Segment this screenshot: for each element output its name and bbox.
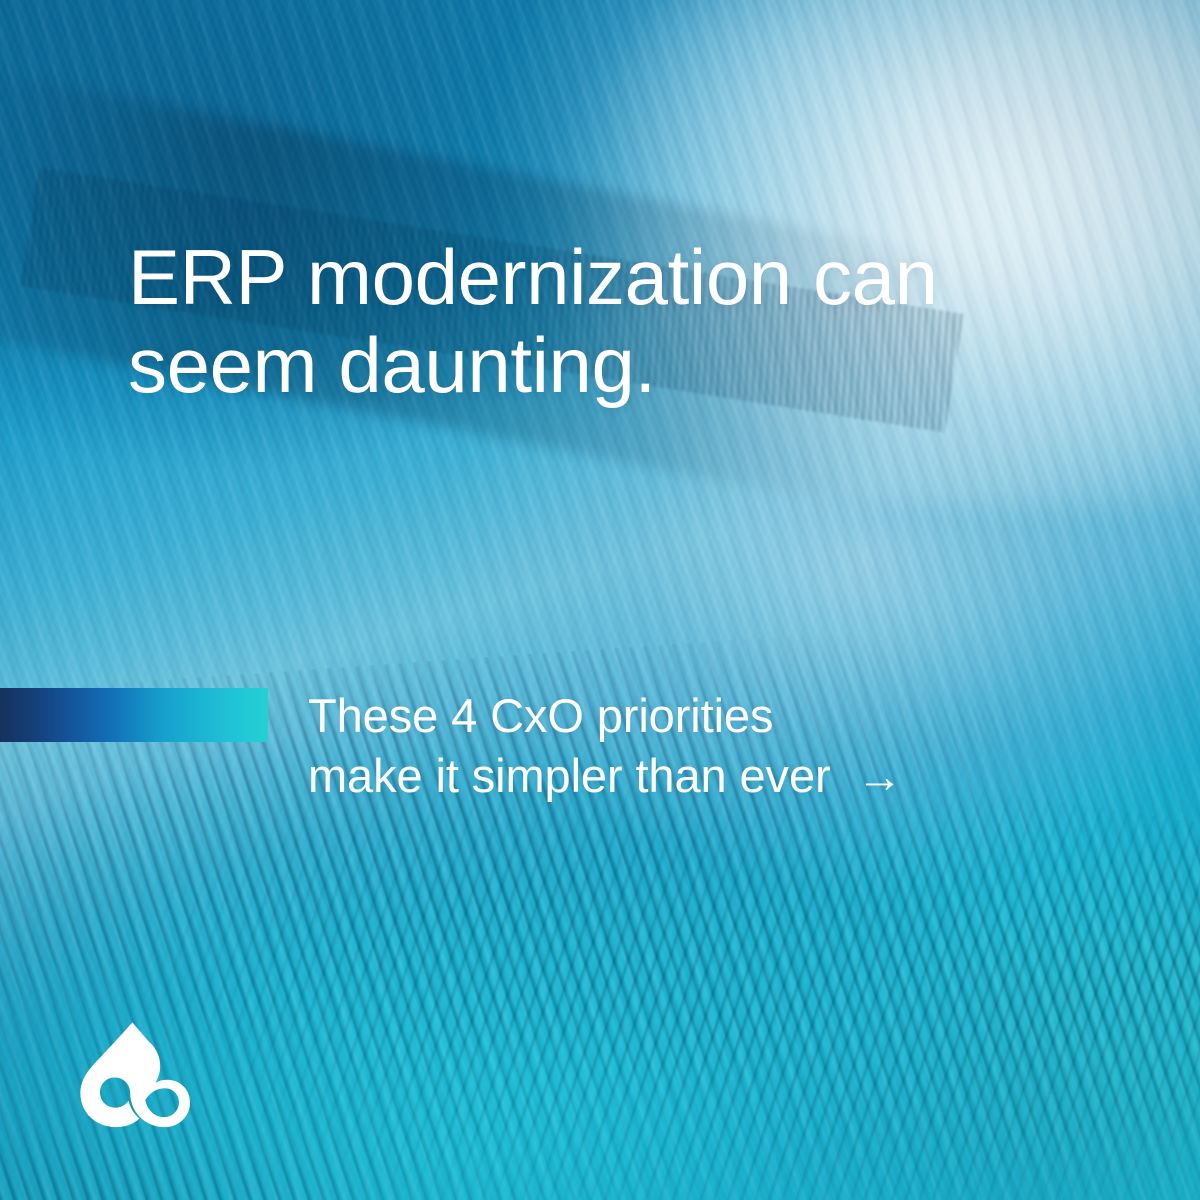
- subheadline-line-1: These 4 CxO priorities: [308, 686, 1108, 746]
- accent-gradient-bar: [0, 688, 268, 742]
- social-graphic-canvas: ERP modernization can seem daunting. The…: [0, 0, 1200, 1200]
- sopra-steria-logo[interactable]: [72, 1018, 190, 1136]
- arrow-right-icon[interactable]: →: [857, 747, 903, 806]
- headline: ERP modernization can seem daunting.: [128, 233, 1028, 409]
- subheadline-line-2-row: make it simpler than ever→: [308, 746, 1108, 806]
- subheadline: These 4 CxO priorities make it simpler t…: [308, 686, 1108, 806]
- headline-line-2: seem daunting.: [128, 321, 1028, 409]
- headline-line-1: ERP modernization can: [128, 233, 1028, 321]
- subheadline-line-2: make it simpler than ever: [308, 746, 831, 806]
